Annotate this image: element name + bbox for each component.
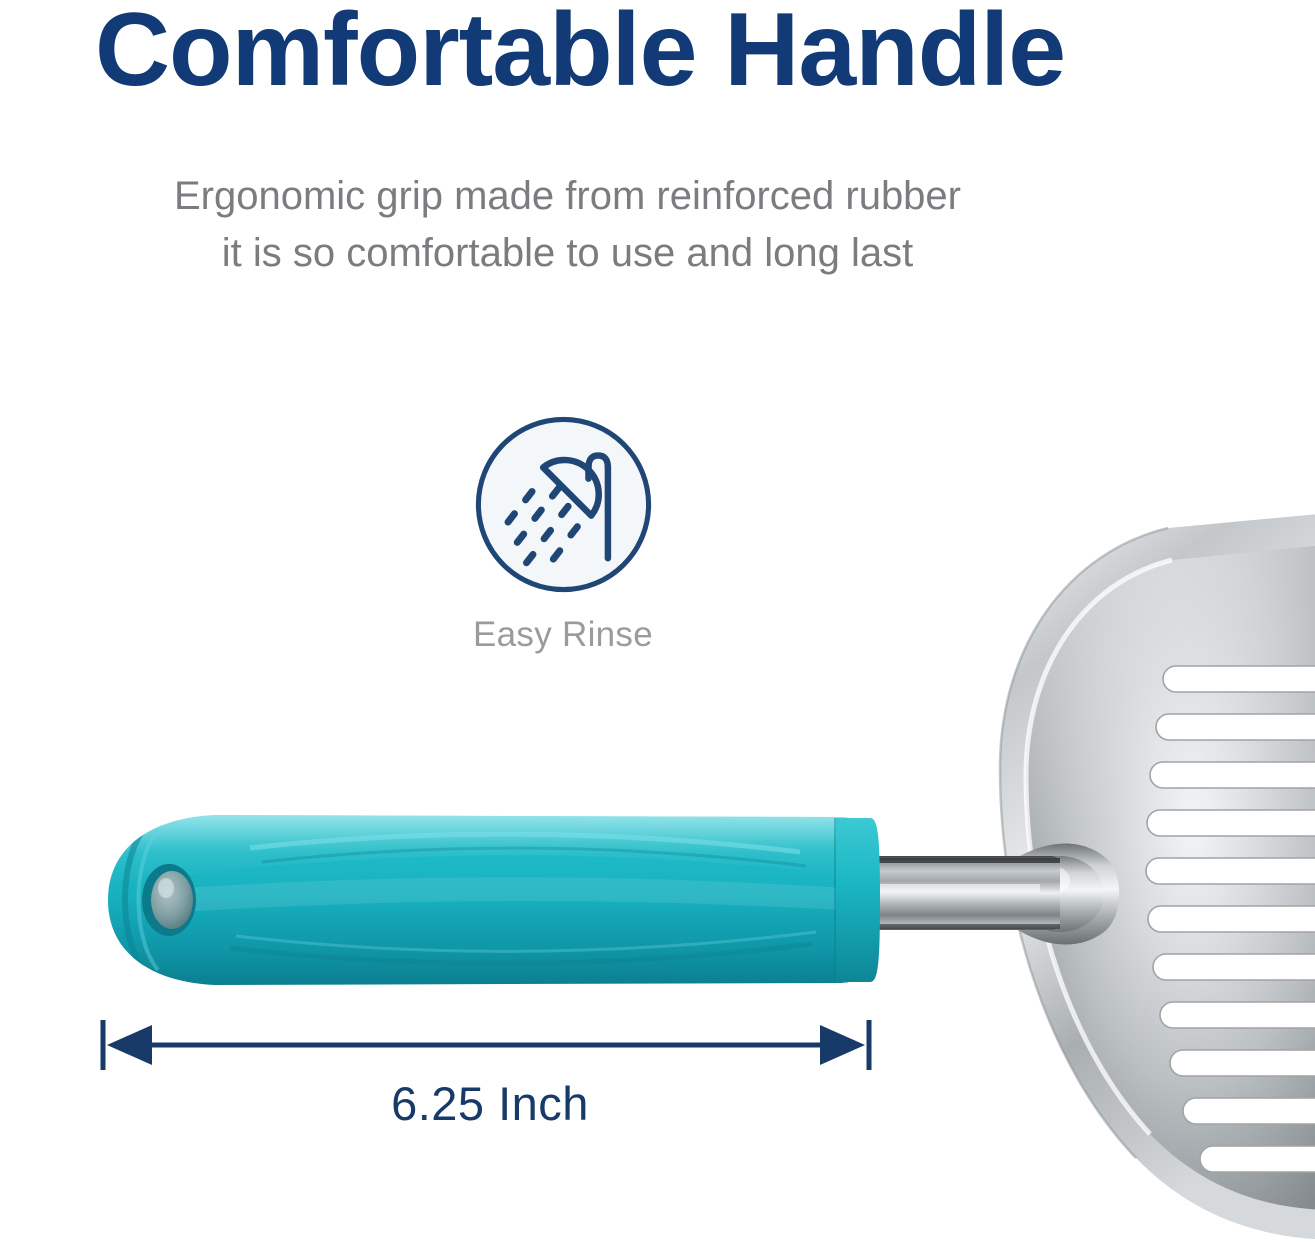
rubber-grip — [108, 815, 880, 985]
scoop-neck — [1016, 844, 1119, 945]
dimension-label: 6.25 Inch — [90, 1076, 890, 1131]
feature-badge-easy-rinse: Easy Rinse — [413, 412, 713, 655]
page-subtitle-line-1: Ergonomic grip made from reinforced rubb… — [0, 168, 1135, 225]
page-title: Comfortable Handle — [0, 0, 1160, 106]
scoop-head — [1000, 512, 1315, 1240]
metal-shaft — [846, 856, 1060, 930]
page-subtitle: Ergonomic grip made from reinforced rubb… — [0, 168, 1135, 282]
dimension-annotation: 6.25 Inch — [90, 1014, 890, 1144]
page-subtitle-line-2: it is so comfortable to use and long las… — [0, 225, 1135, 282]
shower-rinse-icon — [471, 412, 656, 597]
feature-badge-label: Easy Rinse — [413, 615, 713, 655]
dimension-arrow — [90, 1014, 890, 1084]
